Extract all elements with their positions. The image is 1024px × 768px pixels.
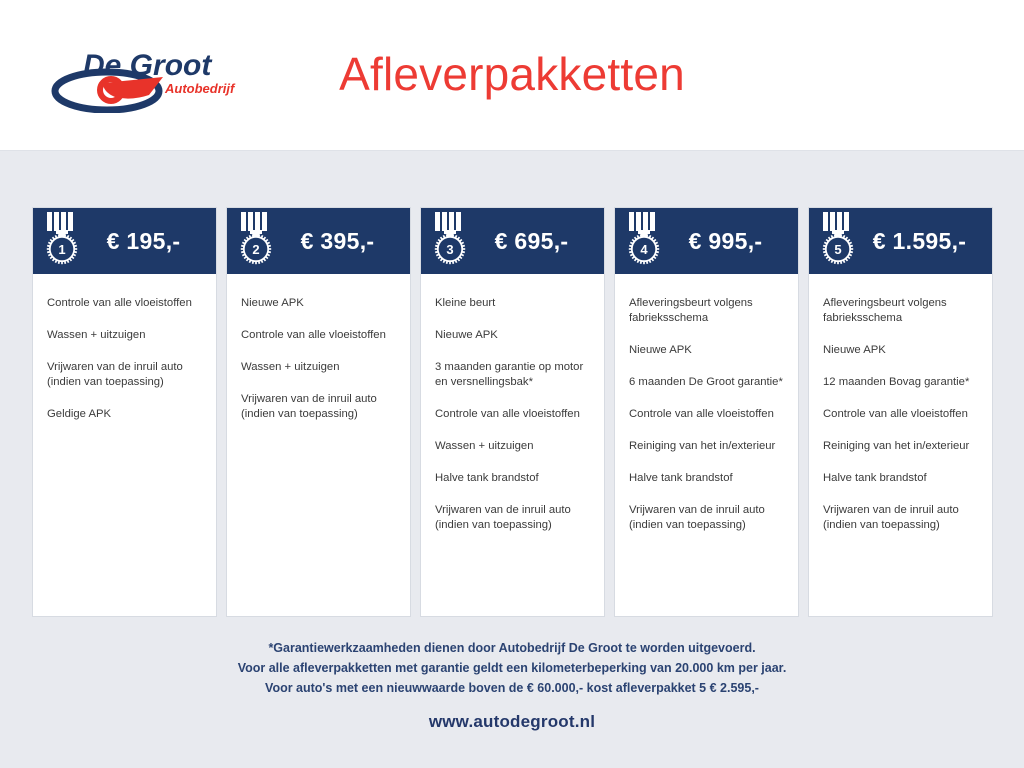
package-feature-item: Controle van alle vloeistoffen: [241, 328, 396, 343]
package-feature-item: Kleine beurt: [435, 296, 590, 311]
package-price: € 995,-: [665, 228, 792, 255]
poster-page: De Groot Autobedrijf Afleverpakketten 1€…: [0, 0, 1024, 768]
package-feature-item: Halve tank brandstof: [823, 471, 978, 486]
package-feature-list: Nieuwe APKControle van alle vloeistoffen…: [227, 274, 410, 616]
package-card-header: 3€ 695,-: [421, 208, 604, 274]
package-card[interactable]: 4€ 995,-Afleveringsbeurt volgens fabriek…: [615, 208, 798, 616]
footer-notes: *Garantiewerkzaamheden dienen door Autob…: [0, 638, 1024, 698]
package-feature-item: Controle van alle vloeistoffen: [47, 296, 202, 311]
medal-icon: 4: [623, 208, 665, 270]
footer-note: Voor auto's met een nieuwwaarde boven de…: [0, 678, 1024, 698]
medal-icon: 2: [235, 208, 277, 270]
package-feature-list: Controle van alle vloeistoffenWassen + u…: [33, 274, 216, 616]
page-header: De Groot Autobedrijf Afleverpakketten: [0, 0, 1024, 151]
medal-icon: 3: [429, 208, 471, 270]
footer-note: Voor alle afleverpakketten met garantie …: [0, 658, 1024, 678]
package-feature-item: 12 maanden Bovag garantie*: [823, 375, 978, 390]
svg-text:1: 1: [58, 242, 65, 257]
package-feature-item: Halve tank brandstof: [629, 471, 784, 486]
package-card[interactable]: 3€ 695,-Kleine beurtNieuwe APK3 maanden …: [421, 208, 604, 616]
footer-note: *Garantiewerkzaamheden dienen door Autob…: [0, 638, 1024, 658]
package-feature-item: Geldige APK: [47, 407, 202, 422]
package-feature-item: Vrijwaren van de inruil auto (indien van…: [823, 503, 978, 533]
medal-icon: 1: [41, 208, 83, 270]
package-card-header: 5€ 1.595,-: [809, 208, 992, 274]
package-feature-item: 3 maanden garantie op motor en versnelli…: [435, 360, 590, 390]
package-feature-item: Vrijwaren van de inruil auto (indien van…: [629, 503, 784, 533]
package-feature-item: Afleveringsbeurt volgens fabrieksschema: [629, 296, 784, 326]
package-price: € 1.595,-: [859, 228, 986, 255]
package-feature-item: Vrijwaren van de inruil auto (indien van…: [435, 503, 590, 533]
package-feature-item: Wassen + uitzuigen: [435, 439, 590, 454]
package-feature-item: Vrijwaren van de inruil auto (indien van…: [241, 392, 396, 422]
package-card-header: 2€ 395,-: [227, 208, 410, 274]
package-card[interactable]: 5€ 1.595,-Afleveringsbeurt volgens fabri…: [809, 208, 992, 616]
package-feature-item: Controle van alle vloeistoffen: [823, 407, 978, 422]
svg-text:5: 5: [834, 242, 841, 257]
package-price: € 195,-: [83, 228, 210, 255]
package-feature-list: Afleveringsbeurt volgens fabrieksschemaN…: [615, 274, 798, 616]
package-price: € 695,-: [471, 228, 598, 255]
package-feature-item: Reiniging van het in/exterieur: [823, 439, 978, 454]
package-feature-item: Nieuwe APK: [435, 328, 590, 343]
package-feature-item: Nieuwe APK: [241, 296, 396, 311]
package-feature-item: Nieuwe APK: [823, 343, 978, 358]
package-feature-item: Controle van alle vloeistoffen: [435, 407, 590, 422]
package-card[interactable]: 2€ 395,-Nieuwe APKControle van alle vloe…: [227, 208, 410, 616]
package-card-header: 4€ 995,-: [615, 208, 798, 274]
package-feature-item: Controle van alle vloeistoffen: [629, 407, 784, 422]
page-title: Afleverpakketten: [0, 47, 1024, 101]
medal-icon: 5: [817, 208, 859, 270]
package-price: € 395,-: [277, 228, 404, 255]
package-feature-list: Afleveringsbeurt volgens fabrieksschemaN…: [809, 274, 992, 616]
svg-text:2: 2: [252, 242, 259, 257]
package-feature-item: Reiniging van het in/exterieur: [629, 439, 784, 454]
package-feature-item: Halve tank brandstof: [435, 471, 590, 486]
package-feature-item: Vrijwaren van de inruil auto (indien van…: [47, 360, 202, 390]
svg-text:3: 3: [446, 242, 453, 257]
package-feature-item: Afleveringsbeurt volgens fabrieksschema: [823, 296, 978, 326]
package-feature-item: Wassen + uitzuigen: [241, 360, 396, 375]
website-url-link[interactable]: www.autodegroot.nl: [0, 712, 1024, 732]
package-card[interactable]: 1€ 195,-Controle van alle vloeistoffenWa…: [33, 208, 216, 616]
package-feature-item: 6 maanden De Groot garantie*: [629, 375, 784, 390]
svg-text:4: 4: [640, 242, 648, 257]
package-feature-item: Wassen + uitzuigen: [47, 328, 202, 343]
package-card-list: 1€ 195,-Controle van alle vloeistoffenWa…: [33, 208, 992, 616]
package-card-header: 1€ 195,-: [33, 208, 216, 274]
package-feature-item: Nieuwe APK: [629, 343, 784, 358]
package-feature-list: Kleine beurtNieuwe APK3 maanden garantie…: [421, 274, 604, 616]
